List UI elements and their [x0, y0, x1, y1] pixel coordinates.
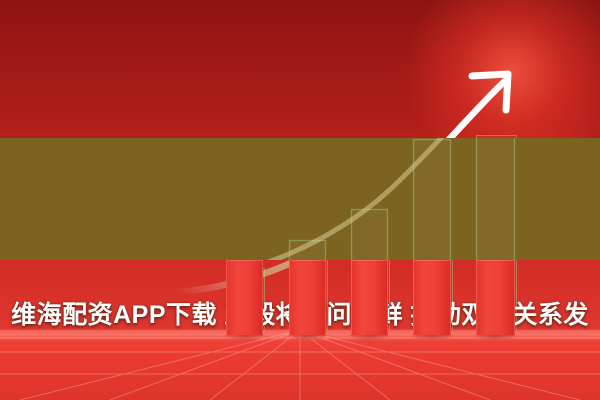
bar-3 [351, 260, 388, 336]
bar-4 [413, 260, 451, 336]
bar-1 [226, 260, 263, 336]
bar-5 [476, 260, 515, 336]
bar-shadow-1 [222, 335, 267, 341]
bar-shadow-3 [347, 335, 392, 341]
bar-2 [289, 260, 326, 336]
bar-shadow-5 [472, 335, 519, 341]
title-band: 维海配资APP下载 王毅将访问朝鲜 推动双边关系发展 [0, 138, 600, 260]
bar-shadow-2 [285, 335, 330, 341]
promo-banner: 维海配资APP下载 王毅将访问朝鲜 推动双边关系发展 [0, 0, 600, 400]
band-bar-outlines [0, 138, 600, 260]
bar-shadow-4 [409, 335, 455, 341]
